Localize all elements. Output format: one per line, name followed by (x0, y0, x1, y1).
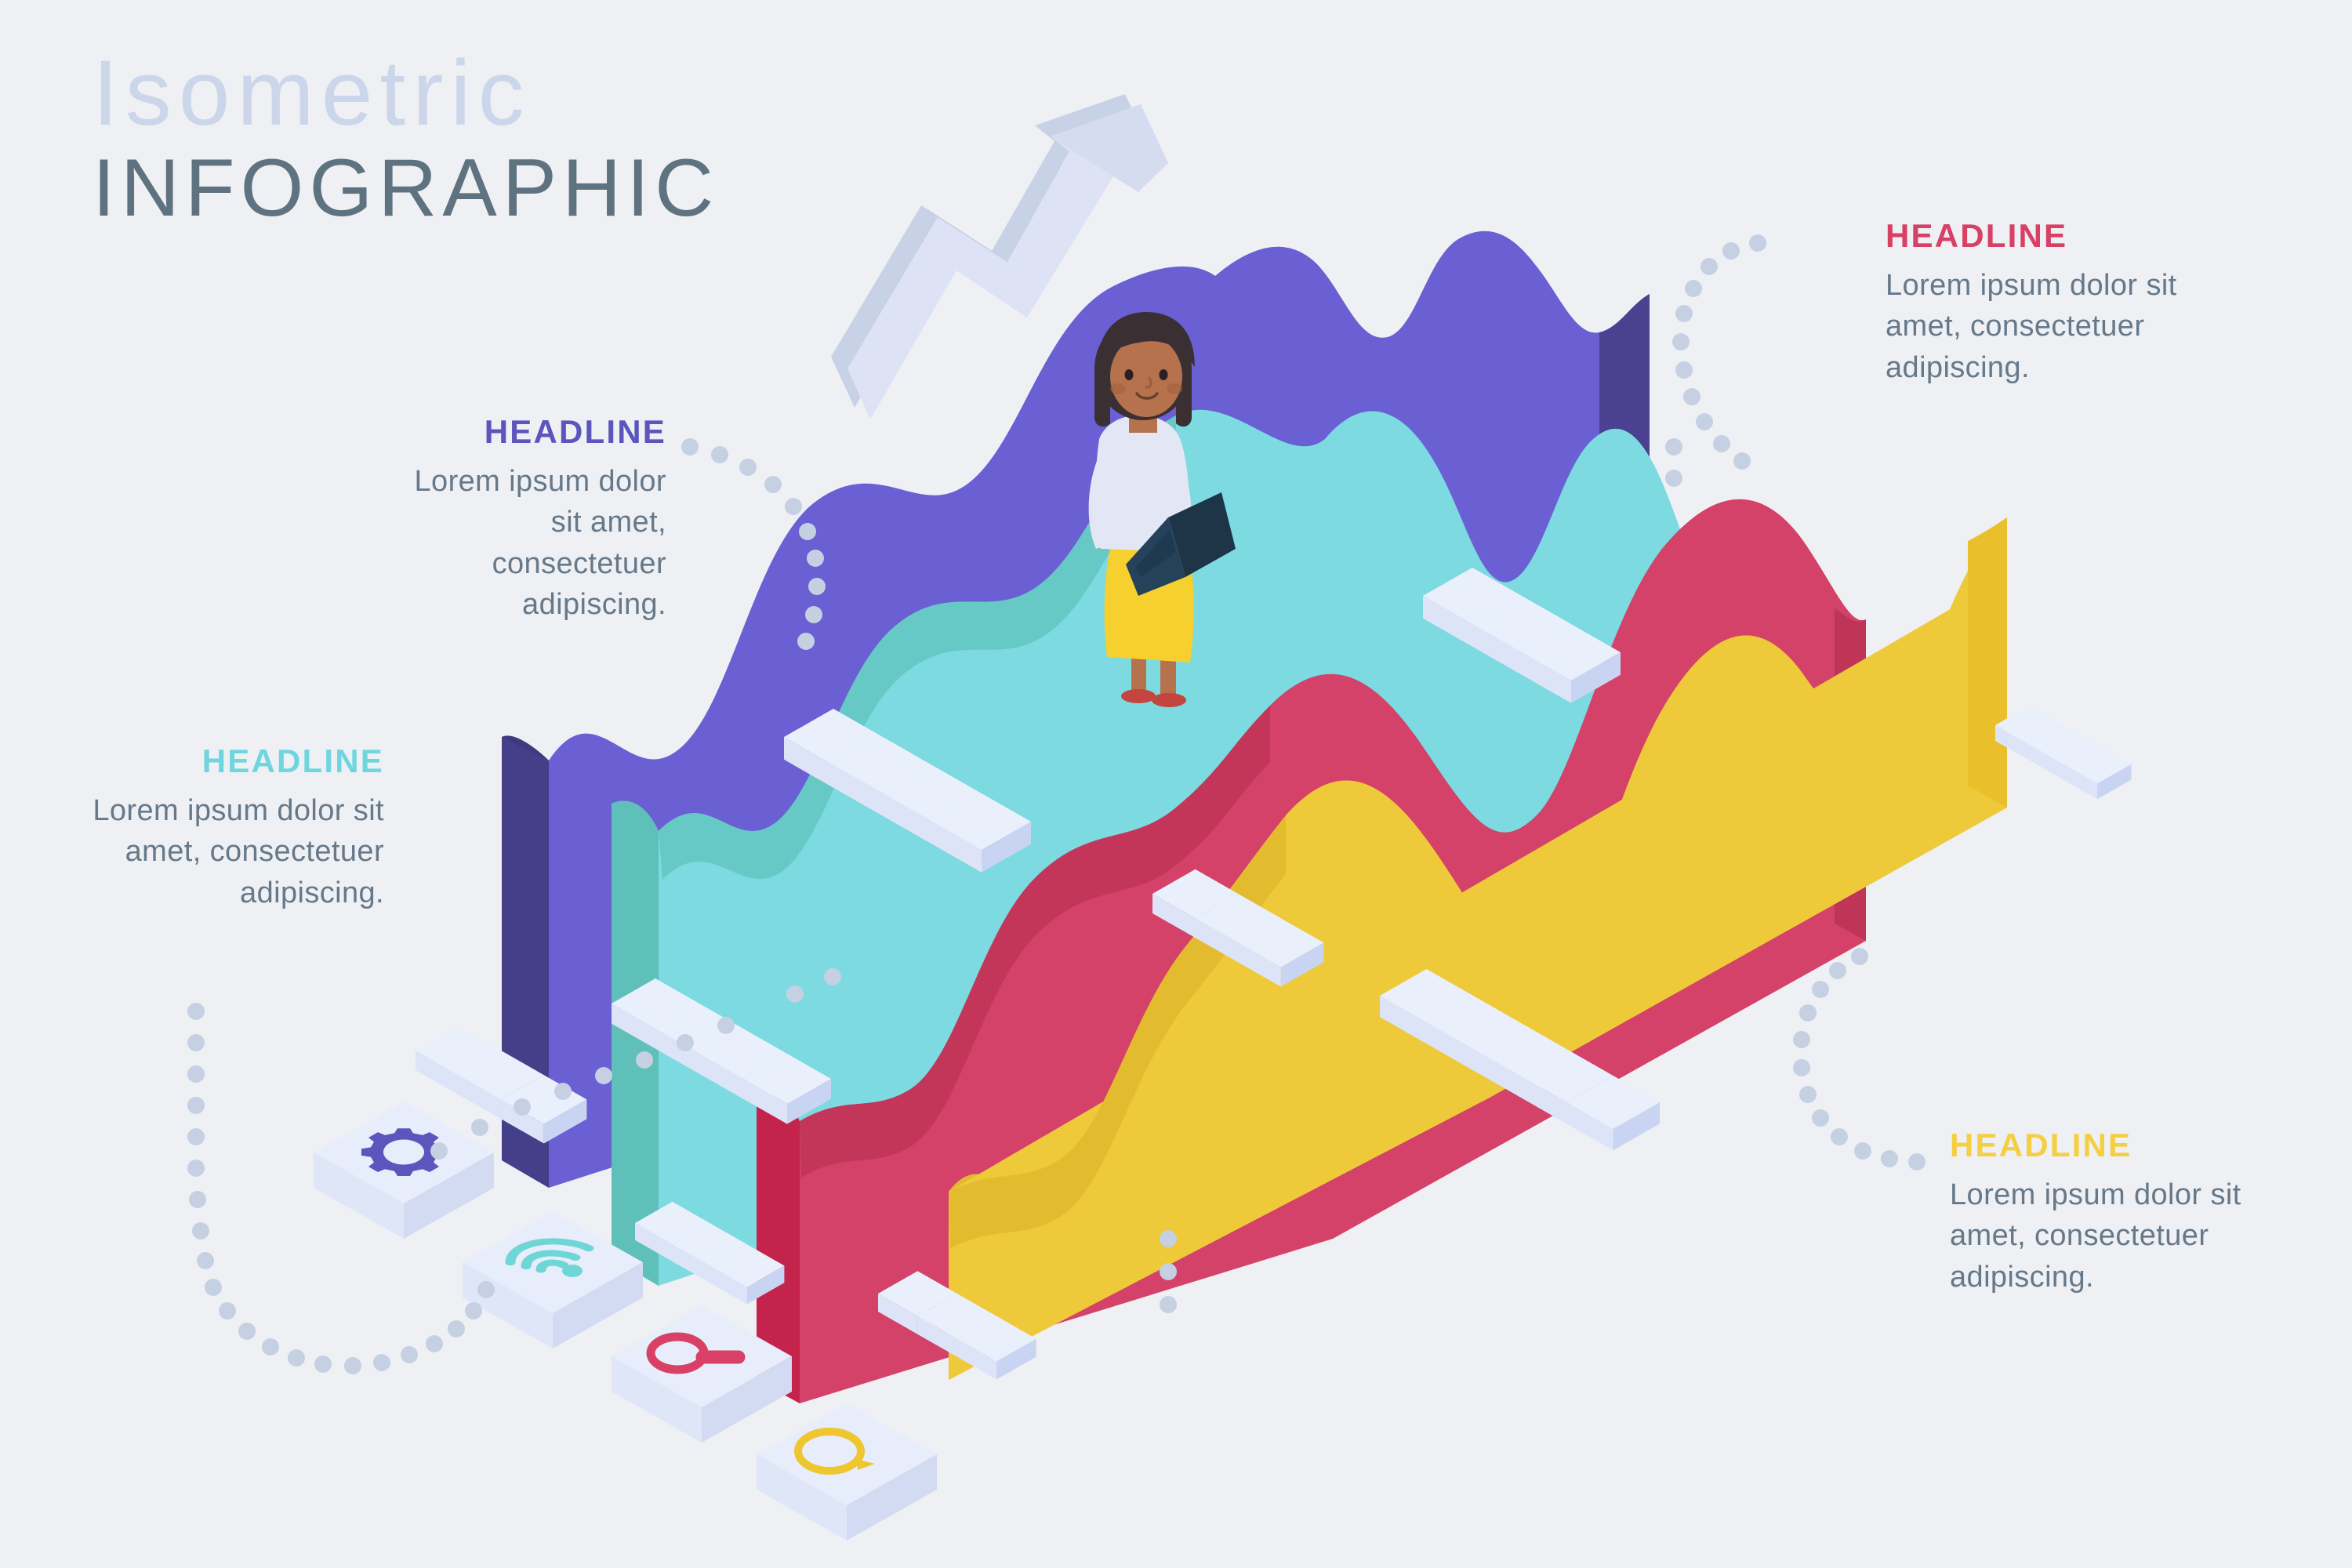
icon-tile-gear[interactable] (314, 1102, 494, 1239)
callout-purple-body: Lorem ipsum dolor sit amet, consectetuer… (376, 461, 666, 626)
callout-crimson-body: Lorem ipsum dolor sit amet, consectetuer… (1886, 265, 2183, 388)
icon-tile-comment[interactable] (757, 1403, 937, 1541)
callout-crimson: HEADLINE Lorem ipsum dolor sit amet, con… (1886, 220, 2183, 388)
callout-cyan: HEADLINE Lorem ipsum dolor sit amet, con… (71, 745, 384, 913)
callout-crimson-headline: HEADLINE (1886, 220, 2183, 252)
callout-yellow: HEADLINE Lorem ipsum dolor sit amet, con… (1950, 1129, 2248, 1298)
callout-purple-headline: HEADLINE (376, 416, 666, 448)
callout-cyan-headline: HEADLINE (71, 745, 384, 778)
callout-yellow-headline: HEADLINE (1950, 1129, 2248, 1162)
callout-cyan-body: Lorem ipsum dolor sit amet, consectetuer… (71, 790, 384, 913)
infographic-canvas: Isometric INFOGRAPHIC (0, 0, 2352, 1568)
callout-purple: HEADLINE Lorem ipsum dolor sit amet, con… (376, 416, 666, 626)
callout-yellow-body: Lorem ipsum dolor sit amet, consectetuer… (1950, 1174, 2248, 1298)
